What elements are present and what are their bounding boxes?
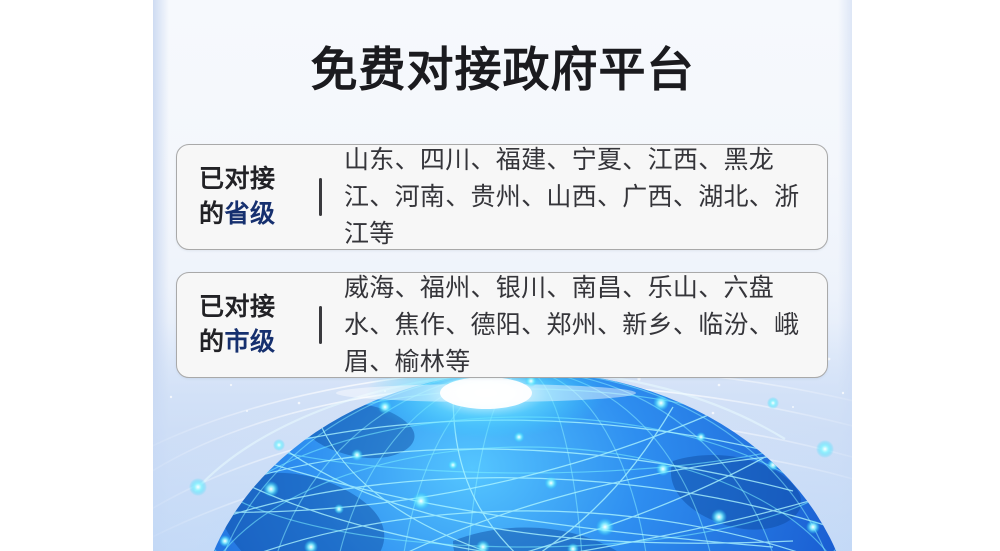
card-city-level: 已对接 的市级 威海、福州、银川、南昌、乐山、六盘水、焦作、德阳、郑州、新乡、临… bbox=[176, 272, 828, 378]
card-city-label-line2: 的市级 bbox=[199, 325, 315, 360]
card-province-label-highlight: 省级 bbox=[225, 200, 276, 228]
card-province-level: 已对接 的省级 山东、四川、福建、宁夏、江西、黑龙江、河南、贵州、山西、广西、湖… bbox=[176, 144, 828, 250]
page-title: 免费对接政府平台 bbox=[153, 40, 852, 100]
card-province-divider bbox=[319, 178, 322, 216]
card-city-label: 已对接 的市级 bbox=[199, 290, 315, 360]
card-city-content: 威海、福州、银川、南昌、乐山、六盘水、焦作、德阳、郑州、新乡、临汾、峨眉、榆林等 bbox=[344, 270, 827, 381]
poster-panel: 免费对接政府平台 已对接 的省级 山东、四川、福建、宁夏、江西、黑龙江、河南、贵… bbox=[153, 0, 852, 551]
card-city-label-prefix: 的 bbox=[199, 328, 225, 356]
poster-canvas: 免费对接政府平台 已对接 的省级 山东、四川、福建、宁夏、江西、黑龙江、河南、贵… bbox=[0, 0, 1000, 551]
card-province-content: 山东、四川、福建、宁夏、江西、黑龙江、河南、贵州、山西、广西、湖北、浙江等 bbox=[344, 142, 827, 253]
card-province-label-line2: 的省级 bbox=[199, 197, 315, 232]
card-province-label-prefix: 的 bbox=[199, 200, 225, 228]
card-city-divider bbox=[319, 306, 322, 344]
card-province-label: 已对接 的省级 bbox=[199, 162, 315, 232]
card-city-label-highlight: 市级 bbox=[225, 328, 276, 356]
card-city-label-line1: 已对接 bbox=[199, 290, 315, 325]
card-province-label-line1: 已对接 bbox=[199, 162, 315, 197]
